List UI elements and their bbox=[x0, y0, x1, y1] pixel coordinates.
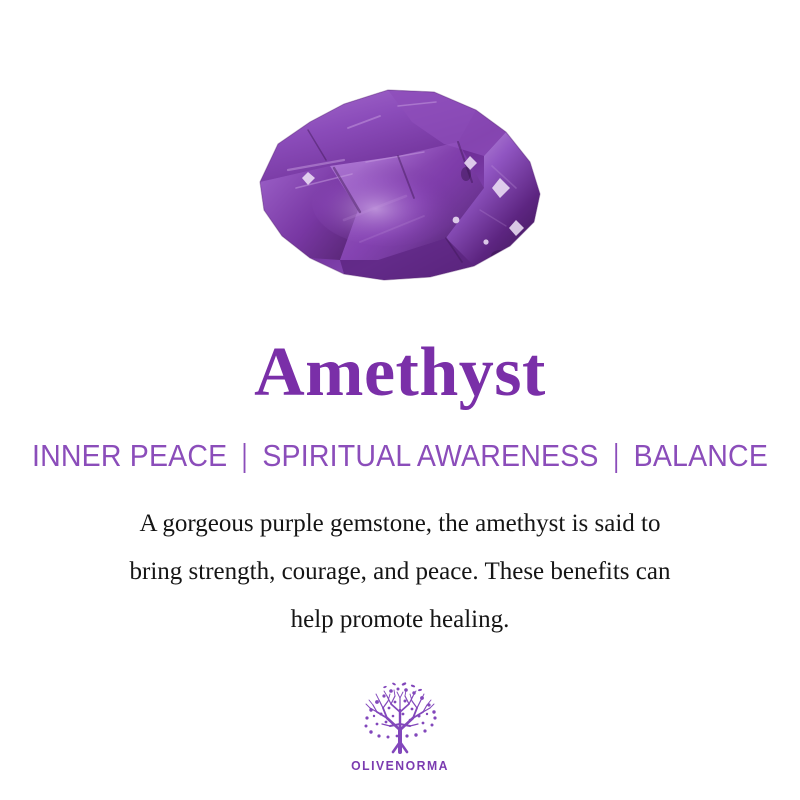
description-text: A gorgeous purple gemstone, the amethyst… bbox=[50, 474, 750, 644]
brand-logo: OLIVENORMA bbox=[348, 644, 452, 773]
tree-icon bbox=[357, 680, 443, 756]
page-title: Amethyst bbox=[254, 320, 546, 408]
keyword-separator-icon bbox=[244, 443, 246, 473]
amethyst-info-card: Amethyst INNER PEACE SPIRITUAL AWARENESS… bbox=[0, 0, 800, 800]
description-line: help promote healing. bbox=[50, 596, 750, 644]
amethyst-crystal-image bbox=[248, 70, 548, 290]
description-line: A gorgeous purple gemstone, the amethyst… bbox=[50, 500, 750, 548]
keyword-inner-peace: INNER PEACE bbox=[32, 438, 227, 474]
hero-section bbox=[0, 0, 800, 320]
keyword-separator-icon bbox=[615, 443, 617, 473]
keyword-spiritual-awareness: SPIRITUAL AWARENESS bbox=[262, 438, 598, 474]
keyword-balance: BALANCE bbox=[634, 438, 768, 474]
amethyst-crystal-illustration bbox=[248, 70, 548, 290]
keyword-list: INNER PEACE SPIRITUAL AWARENESS BALANCE bbox=[32, 408, 768, 474]
logo-wordmark: OLIVENORMA bbox=[351, 758, 449, 773]
description-line: bring strength, courage, and peace. Thes… bbox=[50, 548, 750, 596]
